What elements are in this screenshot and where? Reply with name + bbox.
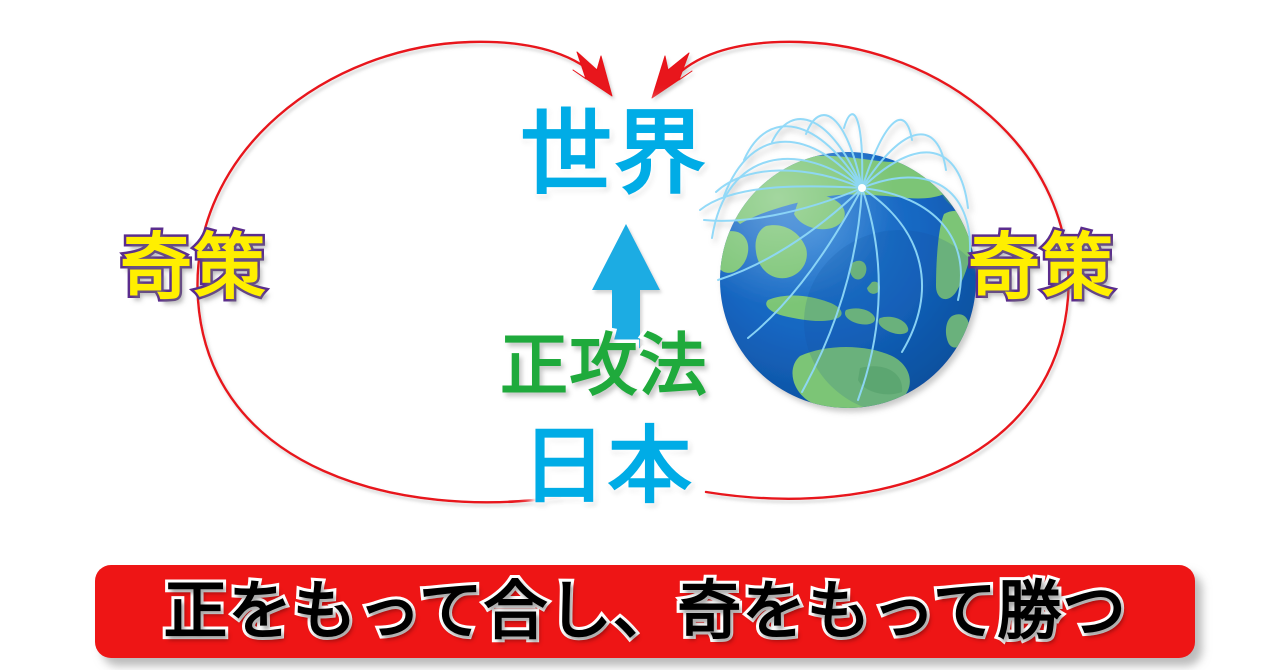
bottom-banner: 正をもって合し、奇をもって勝つ [95, 565, 1195, 658]
label-japan: 日本 [522, 424, 693, 508]
globe-hub-point [858, 184, 866, 192]
label-orthodox-method: 正攻法 [500, 333, 708, 401]
network-globe [700, 114, 996, 414]
banner-text: 正をもって合し、奇をもって勝つ [163, 580, 1126, 644]
label-unconventional-left: 奇策 [120, 231, 267, 303]
label-unconventional-right: 奇策 [968, 231, 1115, 303]
label-world: 世界 [520, 108, 708, 200]
infographic-canvas: 世界 正攻法 日本 奇策 奇策 正をもって合し、奇をもって勝つ [0, 0, 1280, 670]
